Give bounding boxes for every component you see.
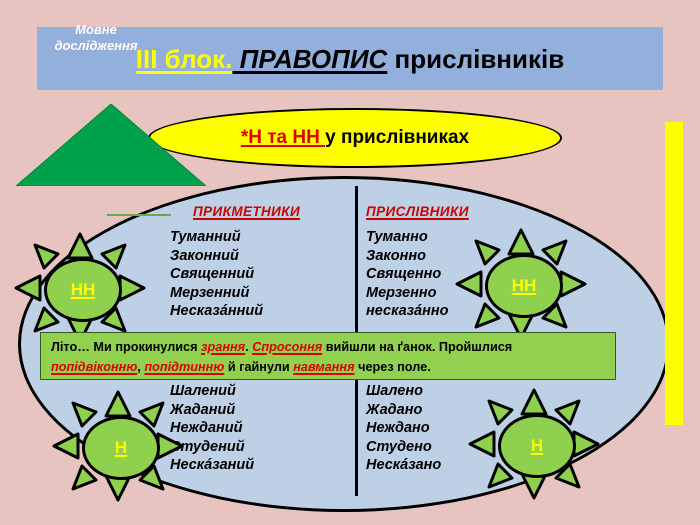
topic-banner-highlight: *Н та НН bbox=[241, 127, 325, 148]
sentence-text: через поле. bbox=[355, 360, 431, 374]
title-tail: прислівників bbox=[387, 44, 564, 74]
sentence-text: Літо… Ми прокинулися bbox=[51, 340, 201, 354]
sentence-line-1: Літо… Ми прокинулися зрання. Спросоння в… bbox=[51, 337, 607, 357]
highlighted-adverb: Спросоння bbox=[252, 340, 322, 354]
word-list-top-left: Туманний Законний Священний Мерзенний Не… bbox=[170, 228, 263, 321]
list-item: Туманний bbox=[170, 228, 263, 247]
highlighted-adverb: попідтинню bbox=[144, 360, 224, 374]
list-item: Священно bbox=[366, 265, 449, 284]
topic-banner: *Н та НН у прислівниках bbox=[148, 108, 562, 168]
triangle-label-line2: дослідження bbox=[26, 38, 166, 54]
column-header-adjectives: ПРИКМЕТНИКИ bbox=[193, 204, 300, 219]
sun-label: НН bbox=[71, 280, 96, 300]
accent-bar bbox=[665, 122, 683, 425]
sun-badge-nn-right: НН bbox=[455, 228, 587, 340]
sentence-line-2: попідвіконню, попідтинню й гайнули навма… bbox=[51, 357, 607, 377]
sun-core: Н bbox=[498, 414, 576, 478]
list-item: Неждано bbox=[366, 419, 441, 438]
list-item: Несказáнний bbox=[170, 302, 263, 321]
highlighted-adverb: навмання bbox=[293, 360, 354, 374]
page-title: III блок. ПРАВОПИС прислівників bbox=[136, 46, 564, 72]
highlighted-adverb: зрання bbox=[201, 340, 245, 354]
sun-label: НН bbox=[512, 276, 537, 296]
word-list-top-right: Туманно Законно Священно Мерзенно несказ… bbox=[366, 228, 449, 321]
sun-core: НН bbox=[44, 258, 122, 322]
triangle-label-line1: Мовне bbox=[26, 22, 166, 38]
list-item: Мерзенно bbox=[366, 284, 449, 303]
list-item: Туманно bbox=[366, 228, 449, 247]
highlighted-adverb: попідвіконню bbox=[51, 360, 137, 374]
header-rule bbox=[107, 214, 171, 216]
sun-core: НН bbox=[485, 254, 563, 318]
list-item: Законний bbox=[170, 247, 263, 266]
column-header-adverbs: ПРИСЛІВНИКИ bbox=[366, 204, 469, 219]
title-emphasis: ПРАВОПИС bbox=[232, 44, 387, 74]
triangle-shape bbox=[16, 104, 206, 186]
sentence-text: вийшли на ґанок. Пройшлися bbox=[322, 340, 512, 354]
sun-badge-n-right: Н bbox=[468, 388, 600, 500]
list-item: Студено bbox=[366, 438, 441, 457]
list-item: Шалено bbox=[366, 382, 441, 401]
list-item: несказáнно bbox=[366, 302, 449, 321]
sentence-text: й гайнули bbox=[224, 360, 293, 374]
list-item: Нескáзано bbox=[366, 456, 441, 475]
list-item: Жадано bbox=[366, 401, 441, 420]
example-sentence-box: Літо… Ми прокинулися зрання. Спросоння в… bbox=[40, 332, 616, 380]
sun-badge-n-left: Н bbox=[52, 390, 184, 502]
green-triangle bbox=[16, 104, 206, 186]
sun-label: Н bbox=[115, 438, 127, 458]
word-list-bottom-right: Шалено Жадано Неждано Студено Нескáзано bbox=[366, 382, 441, 475]
topic-banner-text: *Н та НН у прислівниках bbox=[241, 127, 469, 149]
sun-core: Н bbox=[82, 416, 160, 480]
topic-banner-tail: у прислівниках bbox=[325, 127, 469, 148]
list-item: Законно bbox=[366, 247, 449, 266]
slide-canvas: III блок. ПРАВОПИС прислівників Мовне до… bbox=[0, 0, 700, 525]
sun-label: Н bbox=[531, 436, 543, 456]
list-item: Священний bbox=[170, 265, 263, 284]
list-item: Мерзенний bbox=[170, 284, 263, 303]
sun-badge-nn-left: НН bbox=[14, 232, 146, 344]
triangle-label: Мовне дослідження bbox=[26, 22, 166, 55]
